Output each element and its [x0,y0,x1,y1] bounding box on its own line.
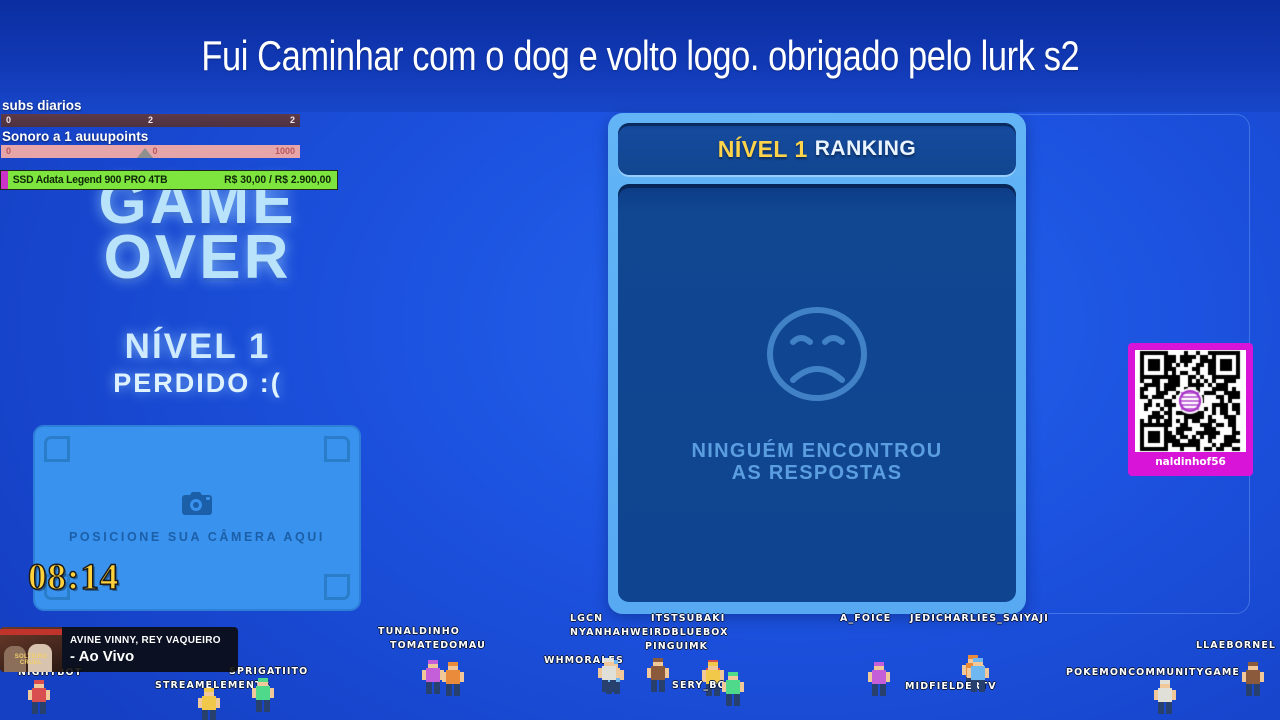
viewer-name-label: A_FOICE [840,613,891,624]
frame-corner-icon [44,436,70,462]
now-playing-title: AVINE VINNY, REY VAQUEIRO [70,635,221,646]
viewer-name-label: ITSTSUBAKI [651,613,725,624]
ranking-empty-message: NINGUÉM ENCONTROU AS RESPOSTAS [692,440,943,484]
viewer-avatar-sprite [596,658,622,697]
goal-progress-points: 0 0 1000 [1,145,300,158]
goal-current-value: 0 [153,145,158,158]
goal-min-value: 0 [6,145,11,158]
album-art-caption: SOLTEIRO CRUEL [4,654,58,666]
ranking-level-label: NÍVEL 1 [718,136,808,163]
ranking-title-label: RANKING [815,137,917,161]
sad-face-icon [765,302,870,412]
qr-username-label: naldinhof56 [1155,456,1226,468]
viewer-avatar-sprite [196,688,222,720]
viewer-avatar-sprite [440,662,466,701]
stream-title-text: Fui Caminhar com o dog e volto logo. obr… [201,32,1079,80]
viewer-avatar-sprite [1152,680,1178,719]
game-over-status: PERDIDO :( [30,368,365,399]
countdown-timer: 08:14 [28,556,119,599]
goal-min-value: 0 [6,114,11,127]
viewer-avatar-sprite [965,658,991,697]
viewer-avatar-sprite [720,672,746,711]
viewer-avatar-sprite [26,680,52,719]
now-playing-toast[interactable]: SOLTEIRO CRUEL AVINE VINNY, REY VAQUEIRO… [0,627,238,672]
viewer-name-label: TUNALDINHO [378,626,460,637]
viewer-avatar-sprite [645,658,671,697]
ranking-empty-line2: AS RESPOSTAS [692,462,943,484]
viewer-name-label: TOMATEDOMAU [390,640,486,651]
viewer-name-label: PINGUIMK [645,641,708,652]
game-over-line2: OVER [30,230,365,285]
sponsor-ticker: SSD Adata Legend 900 PRO 4TB R$ 30,00 / … [0,170,338,190]
viewer-avatar-sprite [1240,662,1266,701]
sponsor-price: R$ 30,00 / R$ 2.900,00 [224,174,337,186]
album-art: SOLTEIRO CRUEL [0,627,62,672]
goal-label-points: Sonoro a 1 auuupoints [0,129,340,144]
goal-current-value: 2 [148,114,153,127]
goal-marker-icon [137,148,153,158]
stream-title-bar: Fui Caminhar com o dog e volto logo. obr… [0,0,1280,112]
sponsor-accent-bar [1,171,8,189]
qr-code-card[interactable]: naldinhof56 [1128,343,1253,476]
viewer-name-label: NYANHAHWEIRDBLUEBOX [570,627,729,638]
goal-bars-group: subs diarios 0 2 2 Sonoro a 1 auuupoints… [0,98,340,160]
viewer-name-label: LGCN [570,613,603,624]
viewer-name-label: JEDICHARLIES_SAIYAJI [910,613,1049,624]
viewer-avatar-sprite [250,678,276,717]
album-art-band [0,629,62,635]
goal-max-value: 1000 [275,145,295,158]
ranking-empty-line1: NINGUÉM ENCONTROU [692,440,943,462]
game-over-level: NÍVEL 1 [30,327,365,367]
viewer-name-label: POKEMONCOMMUNITYGAME [1066,667,1240,678]
qr-code-image [1135,350,1246,452]
ranking-header: NÍVEL 1 RANKING [618,123,1016,175]
viewer-name-label: SPRIGATIITO [229,666,308,677]
now-playing-text: AVINE VINNY, REY VAQUEIRO - Ao Vivo [62,635,221,665]
frame-corner-icon [324,574,350,600]
camera-placeholder-label: POSICIONE SUA CÂMERA AQUI [69,530,325,544]
sponsor-product-name: SSD Adata Legend 900 PRO 4TB [8,174,205,186]
ranking-body: NINGUÉM ENCONTROU AS RESPOSTAS [618,184,1016,602]
game-over-block: GAME OVER NÍVEL 1 PERDIDO :( [30,175,365,399]
viewer-avatar-sprite [866,662,892,701]
ranking-panel: NÍVEL 1 RANKING NINGUÉM ENCONTROU AS RES… [608,113,1026,614]
goal-max-value: 2 [290,114,295,127]
now-playing-subtitle: - Ao Vivo [70,648,221,665]
goal-label-subs: subs diarios [0,98,340,113]
goal-progress-subs: 0 2 2 [1,114,300,127]
frame-corner-icon [324,436,350,462]
viewer-name-label: LLAEBORNEL [1196,640,1276,651]
camera-icon [182,492,212,520]
